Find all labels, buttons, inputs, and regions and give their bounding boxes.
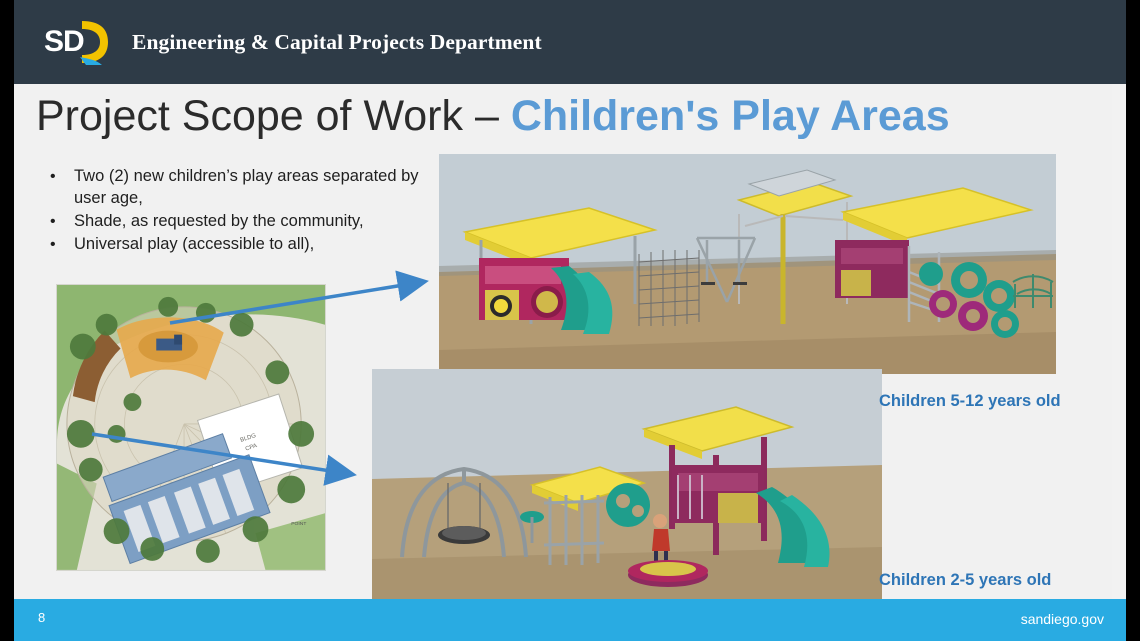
page-title-main: Project Scope of Work –: [36, 92, 511, 140]
playground-render-bottom: [372, 369, 882, 599]
bullet-dot-icon: •: [50, 166, 74, 210]
bullet-list: • Two (2) new children’s play areas sepa…: [50, 166, 450, 257]
bullet-dot-icon: •: [50, 234, 74, 256]
presentation-slide: SD Engineering & Capital Projects Depart…: [0, 0, 1140, 641]
site-plan-image: BLDG CPA: [56, 284, 326, 571]
sd-logo-text: SD: [44, 25, 84, 59]
svg-text:POINT: POINT: [291, 521, 306, 527]
letterbox-right: [1126, 0, 1140, 641]
bullet-text: Universal play (accessible to all),: [74, 234, 450, 256]
page-title-accent: Children's Play Areas: [511, 92, 950, 140]
playground-render-top: [439, 154, 1056, 374]
site-plan-graphic: BLDG CPA: [57, 285, 325, 570]
sd-swoosh-icon: [80, 19, 110, 65]
slide-footer: 8 sandiego.gov: [14, 599, 1126, 641]
sd-logo: SD: [44, 19, 110, 65]
page-title: Project Scope of Work – Children's Play …: [36, 92, 950, 141]
slide-header: SD Engineering & Capital Projects Depart…: [14, 0, 1126, 84]
footer-url: sandiego.gov: [1021, 611, 1104, 627]
slide-body: Project Scope of Work – Children's Play …: [14, 84, 1126, 599]
list-item: • Two (2) new children’s play areas sepa…: [50, 166, 450, 210]
letterbox-left: [0, 0, 14, 641]
bullet-text: Two (2) new children’s play areas separa…: [74, 166, 450, 210]
department-title: Engineering & Capital Projects Departmen…: [132, 30, 542, 55]
playground-render-bottom-graphic: [372, 369, 882, 599]
playground-render-top-graphic: [439, 154, 1056, 374]
list-item: • Shade, as requested by the community,: [50, 211, 450, 233]
caption-children-5-12: Children 5-12 years old: [879, 392, 1061, 411]
caption-children-2-5: Children 2-5 years old: [879, 571, 1051, 590]
bullet-text: Shade, as requested by the community,: [74, 211, 450, 233]
page-number: 8: [38, 610, 45, 625]
bullet-dot-icon: •: [50, 211, 74, 233]
list-item: • Universal play (accessible to all),: [50, 234, 450, 256]
